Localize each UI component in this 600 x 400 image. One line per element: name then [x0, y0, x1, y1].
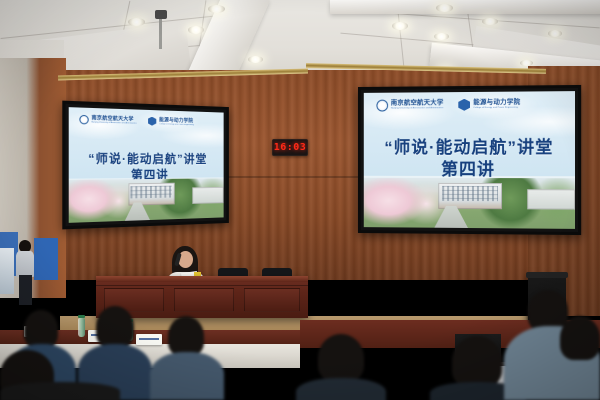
podium-front-panel [244, 288, 300, 312]
left-projection-screen[interactable]: 南京航空航天大学 Nanjing University of Aeronauti… [62, 101, 229, 230]
podium-seam [96, 285, 308, 286]
audience-head [452, 336, 502, 388]
photo-walkway [434, 206, 468, 228]
podium-front-panel [174, 288, 234, 312]
audience-head [96, 306, 134, 348]
audience-shoulders [296, 378, 386, 400]
college-logo-text: 能源与动力学院 College of Energy and Power Engi… [473, 100, 520, 109]
downlight [188, 26, 204, 34]
projector-mount-icon [155, 10, 167, 19]
slide-subtitle: 第四讲 [364, 154, 575, 179]
audience-head [318, 334, 364, 382]
downlight [436, 4, 453, 12]
slide-campus-photo [69, 179, 224, 223]
photo-side-building [192, 187, 224, 203]
university-seal-icon [79, 114, 88, 124]
loudspeaker-top [526, 272, 568, 278]
slide-surface: 南京航空航天大学 Nanjing University of Aeronauti… [364, 91, 575, 229]
downlight [392, 22, 408, 30]
lecture-hall-photo: 南京航空航天大学 Nanjing University of Aeronauti… [0, 0, 600, 400]
wall-digital-clock: 16:03 [272, 139, 308, 156]
downlight [548, 30, 562, 37]
downlight [208, 5, 225, 13]
standing-person-torso [16, 251, 34, 277]
standing-person-legs [19, 275, 32, 305]
audience-shoulders [150, 352, 224, 400]
photo-main-building [128, 183, 174, 205]
projector-mount-pole [159, 19, 162, 49]
right-projection-screen[interactable]: 南京航空航天大学 Nanjing University of Aeronauti… [358, 85, 581, 235]
audience-head [560, 316, 600, 360]
poster-board [0, 248, 14, 294]
downlight [434, 33, 449, 40]
audience-shoulders [0, 382, 120, 400]
clock-time: 16:03 [274, 142, 307, 153]
water-bottle [78, 318, 85, 337]
college-logo: 能源与动力学院 College of Energy and Power Engi… [148, 117, 194, 127]
bottle-cap [78, 315, 85, 318]
university-logo-text: 南京航空航天大学 Nanjing University of Aeronauti… [391, 101, 444, 110]
university-seal-icon [376, 99, 388, 111]
photo-main-building [439, 183, 502, 209]
podium-top-surface [96, 276, 308, 282]
cube-icon [148, 117, 157, 126]
university-logo-text: 南京航空航天大学 Nanjing University of Aeronauti… [91, 116, 136, 124]
slide-title: “师说·能动启航”讲堂 [69, 149, 224, 167]
downlight [128, 18, 145, 26]
downlight [482, 18, 498, 25]
university-logo: 南京航空航天大学 Nanjing University of Aeronauti… [376, 99, 443, 111]
audience-head [24, 310, 58, 348]
photo-side-building [528, 189, 575, 210]
college-logo-text: 能源与动力学院 College of Energy and Power Engi… [159, 118, 194, 126]
cube-icon [458, 99, 470, 111]
poster-board [34, 238, 58, 280]
ceiling-beam [330, 0, 600, 14]
slide-surface: 南京航空航天大学 Nanjing University of Aeronauti… [69, 107, 224, 223]
audience-head [168, 316, 204, 356]
university-logo: 南京航空航天大学 Nanjing University of Aeronauti… [79, 114, 137, 125]
downlight [248, 56, 263, 63]
slide-campus-photo [364, 177, 575, 228]
name-placard [136, 334, 162, 345]
college-logo: 能源与动力学院 College of Energy and Power Engi… [458, 98, 520, 110]
slide-logo-row: 南京航空航天大学 Nanjing University of Aeronauti… [376, 98, 562, 111]
